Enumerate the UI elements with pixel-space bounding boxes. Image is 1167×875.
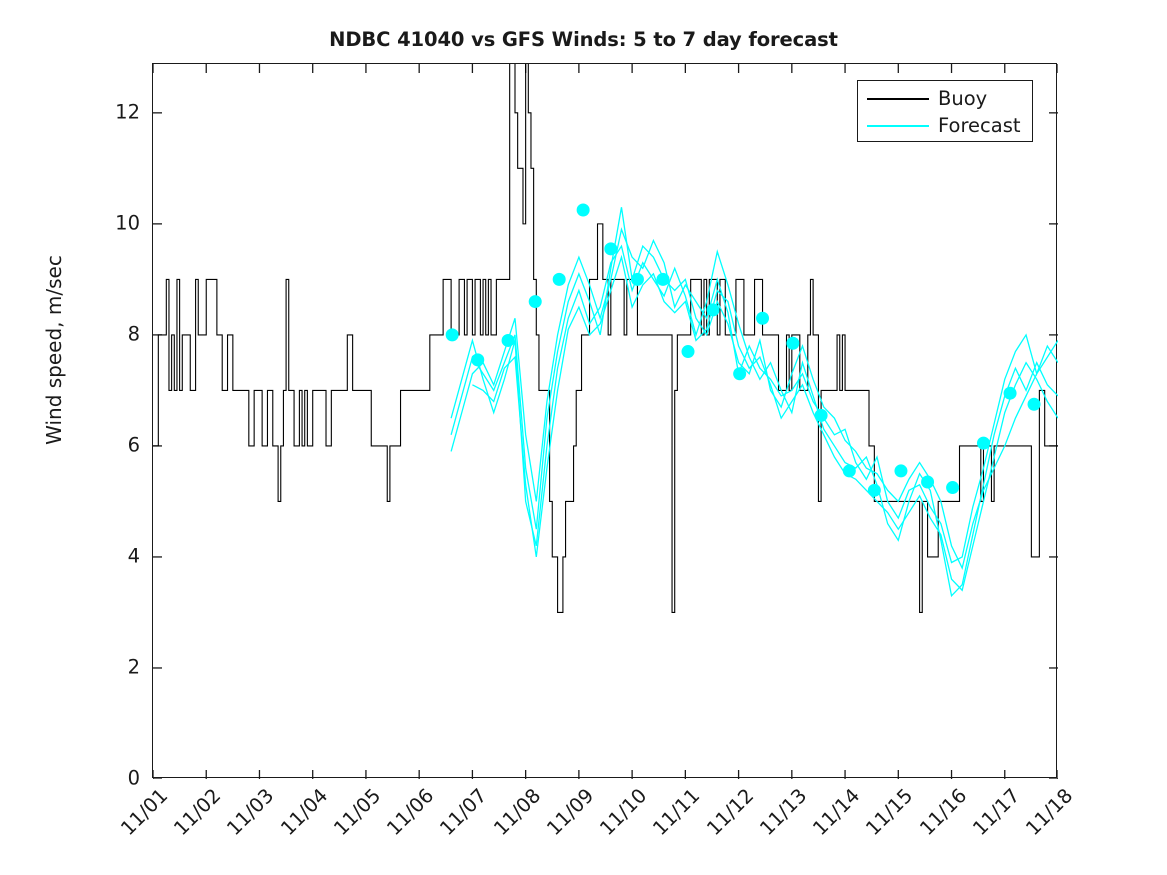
y-tick-label: 0 [128, 767, 140, 790]
y-tick-label: 10 [115, 211, 140, 234]
plot-svg [153, 64, 1058, 779]
y-tick-label: 12 [115, 100, 140, 123]
y-axis-label: Wind speed, m/sec [42, 30, 66, 670]
plot-area [152, 63, 1057, 778]
legend-label-forecast: Forecast [938, 116, 1021, 136]
legend-item-forecast: Forecast [858, 112, 1032, 139]
chart-figure: NDBC 41040 vs GFS Winds: 5 to 7 day fore… [0, 0, 1167, 875]
chart-title: NDBC 41040 vs GFS Winds: 5 to 7 day fore… [0, 28, 1167, 51]
legend-swatch-forecast [867, 125, 929, 127]
legend-swatch-buoy [867, 98, 929, 100]
y-tick-label: 2 [128, 655, 140, 678]
x-axis-tick-labels: 11/0111/0211/0311/0411/0511/0611/0711/08… [152, 778, 1057, 875]
y-tick-label: 6 [128, 433, 140, 456]
y-tick-label: 4 [128, 544, 140, 567]
chart-legend: Buoy Forecast [857, 80, 1033, 142]
y-tick-label: 8 [128, 322, 140, 345]
legend-label-buoy: Buoy [938, 89, 987, 109]
legend-item-buoy: Buoy [858, 85, 1032, 112]
y-axis-tick-labels: 024681012 [92, 63, 140, 778]
